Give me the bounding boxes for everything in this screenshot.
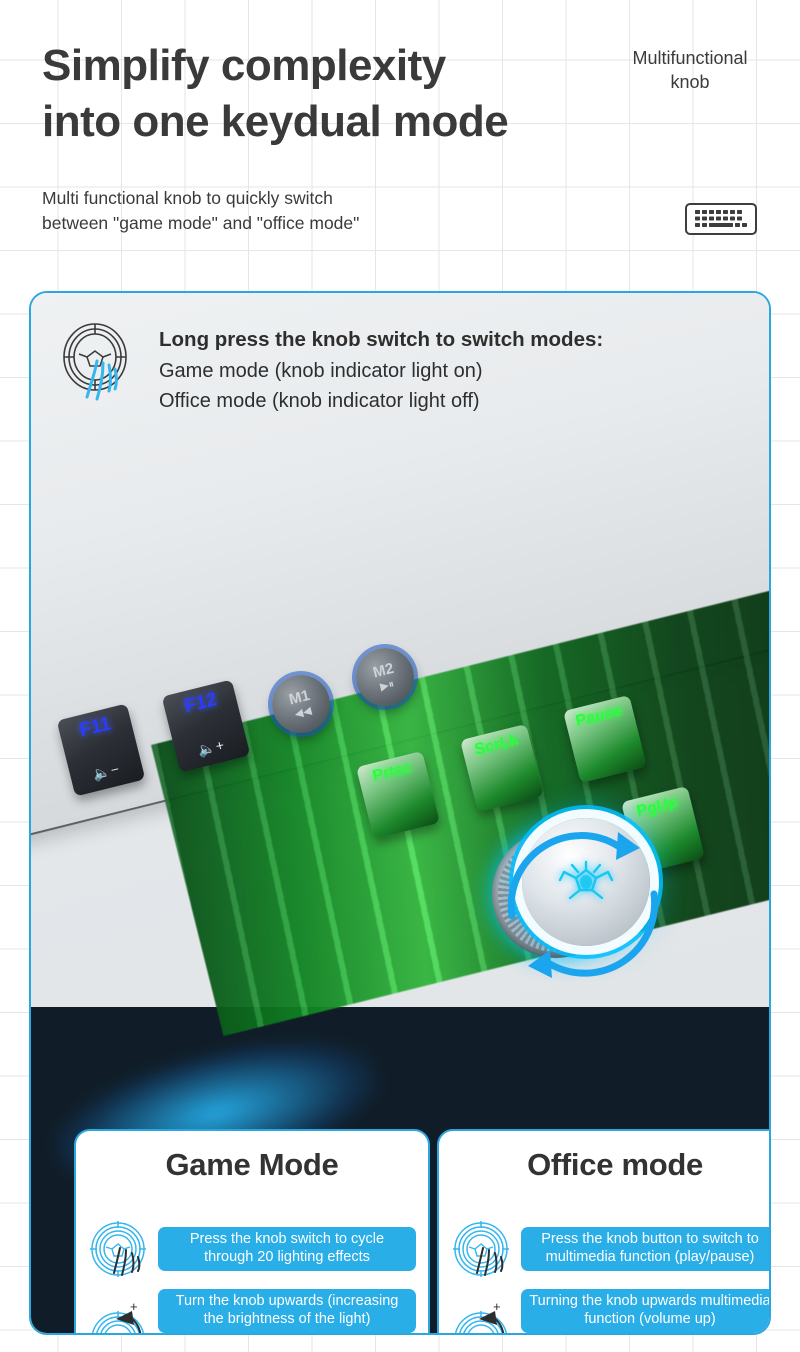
intro-office-line: Office mode (knob indicator light off) <box>159 386 603 416</box>
kicker-text: Multifunctional knob <box>600 46 780 95</box>
knob-rotate-icon: + − <box>453 1301 509 1335</box>
keyboard-m2-label: M2 <box>371 660 395 680</box>
game-rotate-up-bubble: Turn the knob upwards (increasing the br… <box>158 1289 416 1333</box>
svg-text:+: + <box>130 1301 138 1314</box>
keycap-scrlk-label: ScrLk <box>473 731 520 759</box>
intro-game-line: Game mode (knob indicator light on) <box>159 356 603 386</box>
knob-press-icon <box>59 317 139 397</box>
keyboard-m1-label: M1 <box>287 687 311 707</box>
subtitle-line-1: Multi functional knob to quickly switch <box>42 186 562 211</box>
office-press-bubble: Press the knob button to switch to multi… <box>521 1227 771 1271</box>
knob-press-icon <box>90 1221 146 1277</box>
multifunction-knob[interactable] <box>474 808 674 1008</box>
game-press-bubble: Press the knob switch to cycle through 2… <box>158 1227 416 1271</box>
kicker-line-1: Multifunctional <box>600 46 780 70</box>
office-row-press: Press the knob button to switch to multi… <box>453 1221 771 1277</box>
keyboard-icon <box>685 203 757 235</box>
keycap-pause-label: Pause <box>575 702 624 731</box>
subtitle-line-2: between "game mode" and "office mode" <box>42 211 562 236</box>
intro-title: Long press the knob switch to switch mod… <box>159 325 603 356</box>
game-mode-title: Game Mode <box>76 1147 428 1183</box>
game-row-press: Press the knob switch to cycle through 2… <box>90 1221 420 1277</box>
page-title: Simplify complexity into one keydual mod… <box>42 38 642 151</box>
game-mode-panel: Game Mode <box>74 1129 430 1335</box>
prev-track-icon: ◀◀ <box>294 705 313 720</box>
volume-up-icon: 🔈+ <box>196 736 227 759</box>
knob-rotation-arrows-icon <box>468 798 688 1018</box>
svg-text:+: + <box>493 1301 501 1314</box>
office-rotate-up-bubble: Turning the knob upwards multimedia func… <box>521 1289 771 1333</box>
page-subtitle: Multi functional knob to quickly switch … <box>42 186 562 237</box>
office-mode-panel: Office mode <box>437 1129 771 1335</box>
headline-line-1: Simplify complexity <box>42 41 446 90</box>
headline-line-2: into one keydual mode <box>42 94 642 150</box>
keycap-f11-label: F11 <box>78 713 113 742</box>
knob-press-icon <box>453 1221 509 1277</box>
intro-instruction-block: Long press the knob switch to switch mod… <box>59 317 719 416</box>
play-pause-icon: ▶⏸ <box>379 679 395 693</box>
keycap-prtsc-label: Prtsc <box>371 759 414 786</box>
kicker-line-2: knob <box>600 70 780 94</box>
knob-rotate-icon: + − <box>90 1301 146 1335</box>
volume-down-icon: 🔈− <box>91 760 122 783</box>
office-row-rotate: + − Turning the knob upwards multimedia … <box>453 1289 771 1335</box>
office-mode-title: Office mode <box>439 1147 771 1183</box>
main-feature-card: F11 🔈− F12 🔈+ Prtsc ScrLk Pause PgUp M1 … <box>29 291 771 1335</box>
page-header: Simplify complexity into one keydual mod… <box>0 0 800 272</box>
game-row-rotate: + − Turn the knob upwards (increasing th… <box>90 1289 420 1335</box>
keycap-f12-label: F12 <box>182 689 218 718</box>
